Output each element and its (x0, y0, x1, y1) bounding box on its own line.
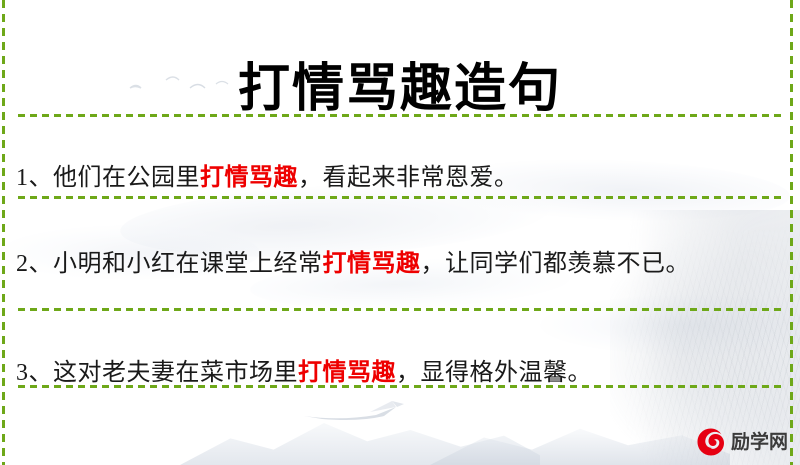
sentence-text-before-1: 他们在公园里 (53, 165, 200, 191)
highlighted-idiom-1: 打情骂趣 (200, 165, 298, 191)
example-sentence-2: 2、小明和小红在课堂上经常打情骂趣，让同学们都羡慕不已。 (16, 246, 768, 282)
divider-rule-3 (18, 308, 782, 311)
sentence-text-before-2: 小明和小红在课堂上经常 (53, 251, 323, 277)
logo-text: 励学网 (731, 433, 788, 452)
divider-rule-2 (18, 196, 782, 199)
sentence-text-after-3: ，显得格外温馨。 (396, 360, 592, 386)
content-area: 打情骂趣造句 1、他们在公园里打情骂趣，看起来非常恩爱。 2、小明和小红在课堂上… (0, 0, 800, 465)
highlighted-idiom-2: 打情骂趣 (323, 251, 421, 277)
sentence-number-3: 3、 (16, 360, 53, 386)
sentence-number-1: 1、 (16, 165, 53, 191)
sentence-text-before-3: 这对老夫妻在菜市场里 (53, 360, 298, 386)
example-sentence-1: 1、他们在公园里打情骂趣，看起来非常恩爱。 (16, 160, 768, 196)
divider-rule-1 (18, 114, 782, 117)
swirl-phoenix-icon (696, 427, 726, 457)
site-logo[interactable]: 励学网 (696, 427, 788, 457)
sentence-text-after-2: ，让同学们都羡慕不已。 (421, 251, 691, 277)
worksheet-page: 打情骂趣造句 1、他们在公园里打情骂趣，看起来非常恩爱。 2、小明和小红在课堂上… (0, 0, 800, 465)
divider-rule-4 (18, 385, 782, 388)
sentence-number-2: 2、 (16, 251, 53, 277)
sentence-text-after-1: ，看起来非常恩爱。 (298, 165, 519, 191)
highlighted-idiom-3: 打情骂趣 (298, 360, 396, 386)
page-title: 打情骂趣造句 (0, 57, 800, 122)
